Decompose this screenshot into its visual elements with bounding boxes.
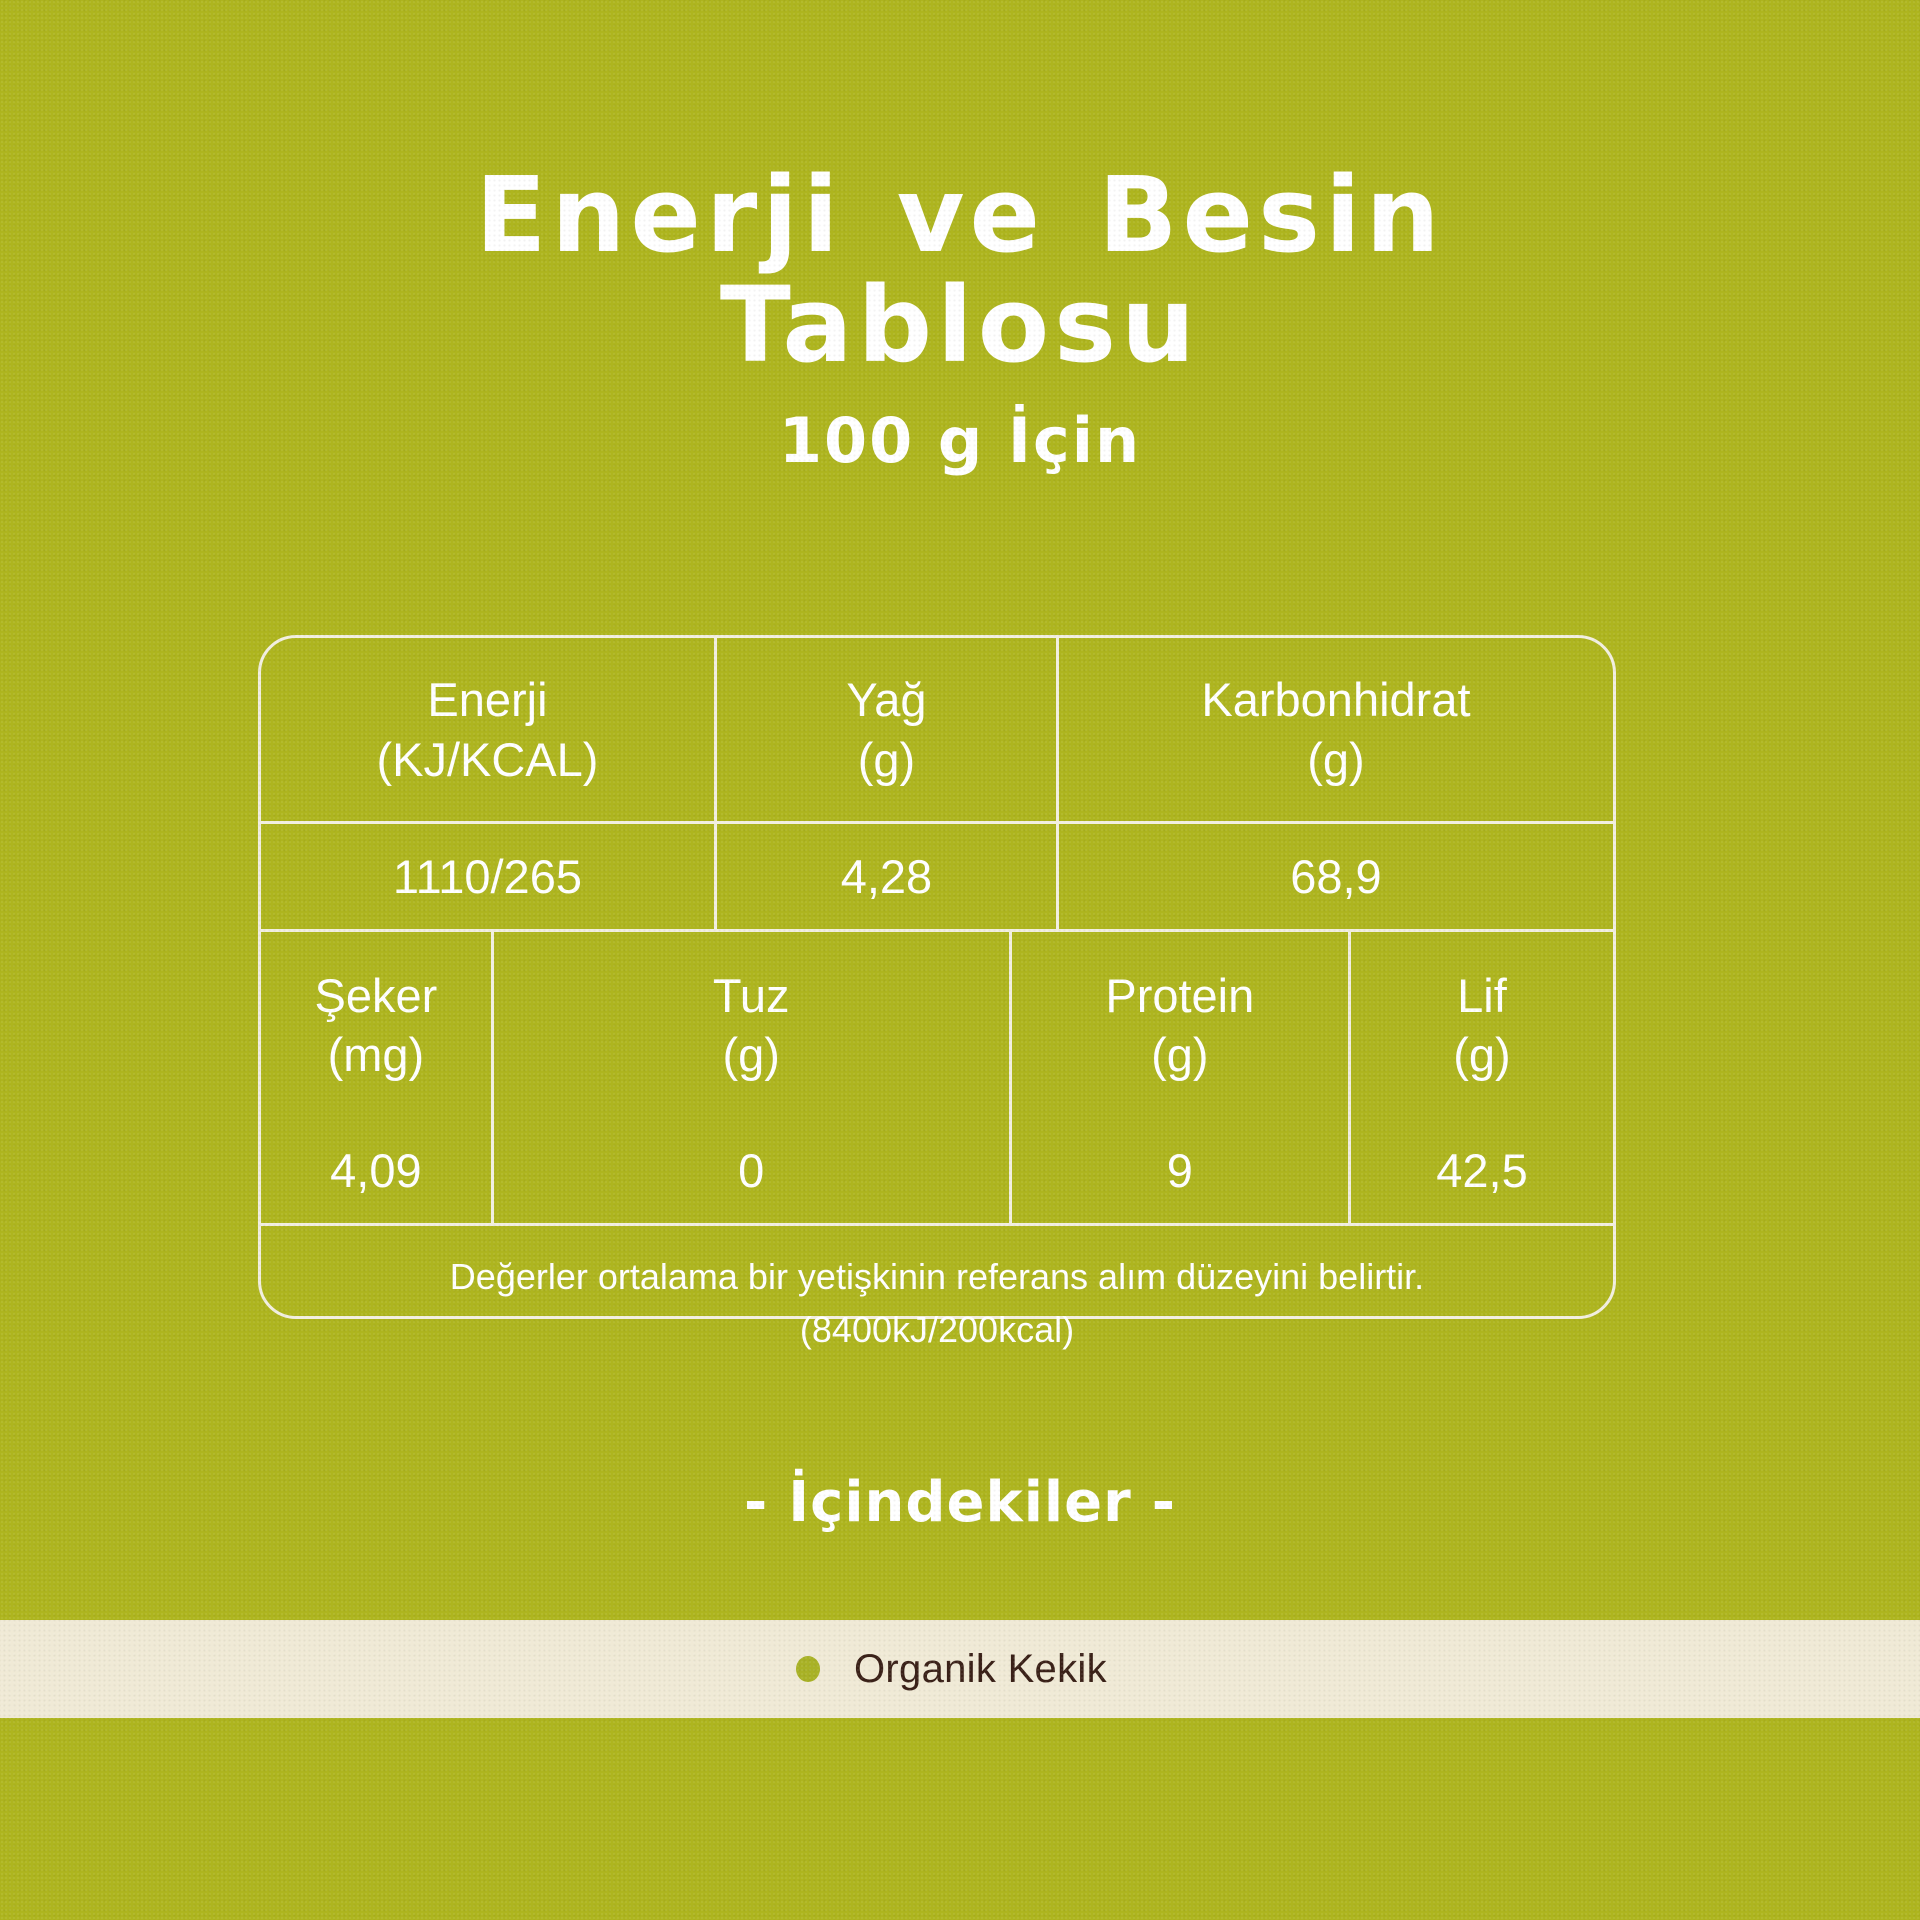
bullet-icon [796,1656,820,1682]
table-footnote-line-2: (8400kJ/200kcal) [321,1303,1553,1356]
table-header-cell-tuz: Tuz (g) [491,932,1009,1118]
header-unit-karbonhidrat: (g) [1307,730,1364,789]
table-value-row-1: 1110/265 4,28 68,9 [261,824,1613,932]
table-header-cell-protein: Protein (g) [1009,932,1348,1118]
ingredients-band: Organik Kekik [0,1620,1920,1718]
header-label-tuz: Tuz [713,966,790,1025]
page-title-line-2: Tablosu [720,264,1200,386]
table-value-cell-enerji: 1110/265 [261,824,714,929]
header-label-enerji: Enerji [427,670,547,729]
table-value-cell-karbonhidrat: 68,9 [1056,824,1613,929]
poster-header: Enerji ve BesinTablosu 100 g İçin [0,160,1920,477]
table-value-cell-protein: 9 [1009,1118,1348,1223]
header-label-protein: Protein [1105,966,1254,1025]
header-label-yag: Yağ [846,670,926,729]
table-header-row-2: Şeker (mg) Tuz (g) Protein (g) Lif (g) [261,932,1613,1118]
header-label-seker: Şeker [315,966,438,1025]
nutrition-table: Enerji (KJ/KCAL) Yağ (g) Karbonhidrat (g… [258,635,1616,1319]
ingredients-heading-label: İçindekiler [788,1470,1131,1535]
header-label-karbonhidrat: Karbonhidrat [1201,670,1470,729]
table-header-cell-seker: Şeker (mg) [261,932,491,1118]
table-value-cell-tuz: 0 [491,1118,1009,1223]
header-unit-tuz: (g) [723,1025,780,1084]
table-value-cell-seker: 4,09 [261,1118,491,1223]
heading-dash-left: - [724,1470,788,1535]
header-label-lif: Lif [1457,966,1507,1025]
table-value-cell-lif: 42,5 [1348,1118,1613,1223]
header-unit-seker: (mg) [328,1025,425,1084]
table-header-cell-lif: Lif (g) [1348,932,1613,1118]
header-unit-enerji: (KJ/KCAL) [376,730,598,789]
table-footnote-line-1: Değerler ortalama bir yetişkinin referan… [321,1250,1553,1303]
header-unit-protein: (g) [1151,1025,1208,1084]
table-header-row-1: Enerji (KJ/KCAL) Yağ (g) Karbonhidrat (g… [261,638,1613,824]
header-unit-yag: (g) [858,730,915,789]
heading-dash-right: - [1132,1470,1196,1535]
ingredient-label: Organik Kekik [854,1647,1107,1692]
header-unit-lif: (g) [1453,1025,1510,1084]
table-header-cell-yag: Yağ (g) [714,638,1056,824]
table-header-cell-enerji: Enerji (KJ/KCAL) [261,638,714,824]
table-value-row-2: 4,09 0 9 42,5 [261,1118,1613,1226]
ingredients-heading: -İçindekiler- [0,1470,1920,1535]
page-title: Enerji ve BesinTablosu [0,160,1920,380]
list-item: Organik Kekik [796,1647,1107,1692]
table-footnote: Değerler ortalama bir yetişkinin referan… [261,1226,1613,1357]
serving-size-subtitle: 100 g İçin [0,404,1920,477]
table-value-cell-yag: 4,28 [714,824,1056,929]
table-header-cell-karbonhidrat: Karbonhidrat (g) [1056,638,1613,824]
page-title-line-1: Enerji ve Besin [475,154,1444,276]
